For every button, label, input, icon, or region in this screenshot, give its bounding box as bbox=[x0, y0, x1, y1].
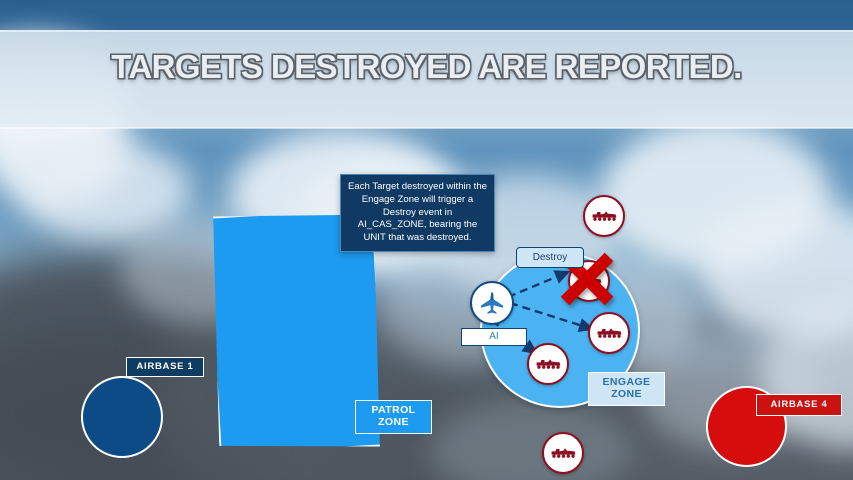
target-marker-east[interactable] bbox=[588, 312, 630, 354]
target-marker-south[interactable] bbox=[527, 343, 569, 385]
slide-canvas: TARGETS DESTROYED ARE REPORTED. Each Tar… bbox=[0, 0, 853, 480]
target-marker-north-outside[interactable] bbox=[583, 195, 625, 237]
target-marker-bottom-outside[interactable] bbox=[542, 432, 584, 474]
airbase-1-circle[interactable] bbox=[81, 376, 163, 458]
aircraft-label: AI bbox=[461, 328, 527, 346]
page-title: TARGETS DESTROYED ARE REPORTED. bbox=[0, 48, 853, 86]
fighter-jet-icon bbox=[477, 291, 507, 315]
destroy-event-label: Destroy bbox=[516, 247, 584, 268]
armored-vehicle-icon bbox=[596, 325, 623, 341]
airbase-1-label: AIRBASE 1 bbox=[126, 357, 204, 377]
armored-vehicle-icon bbox=[591, 208, 618, 224]
callout-textbox: Each Target destroyed within the Engage … bbox=[340, 174, 495, 252]
armored-vehicle-icon bbox=[576, 273, 603, 289]
armored-vehicle-icon bbox=[535, 356, 562, 372]
airbase-4-label: AIRBASE 4 bbox=[756, 394, 842, 416]
patrol-zone-label: PATROL ZONE bbox=[355, 400, 432, 434]
armored-vehicle-icon bbox=[550, 445, 577, 461]
engage-zone-label: ENGAGE ZONE bbox=[588, 372, 665, 406]
aircraft-marker[interactable] bbox=[470, 281, 514, 325]
